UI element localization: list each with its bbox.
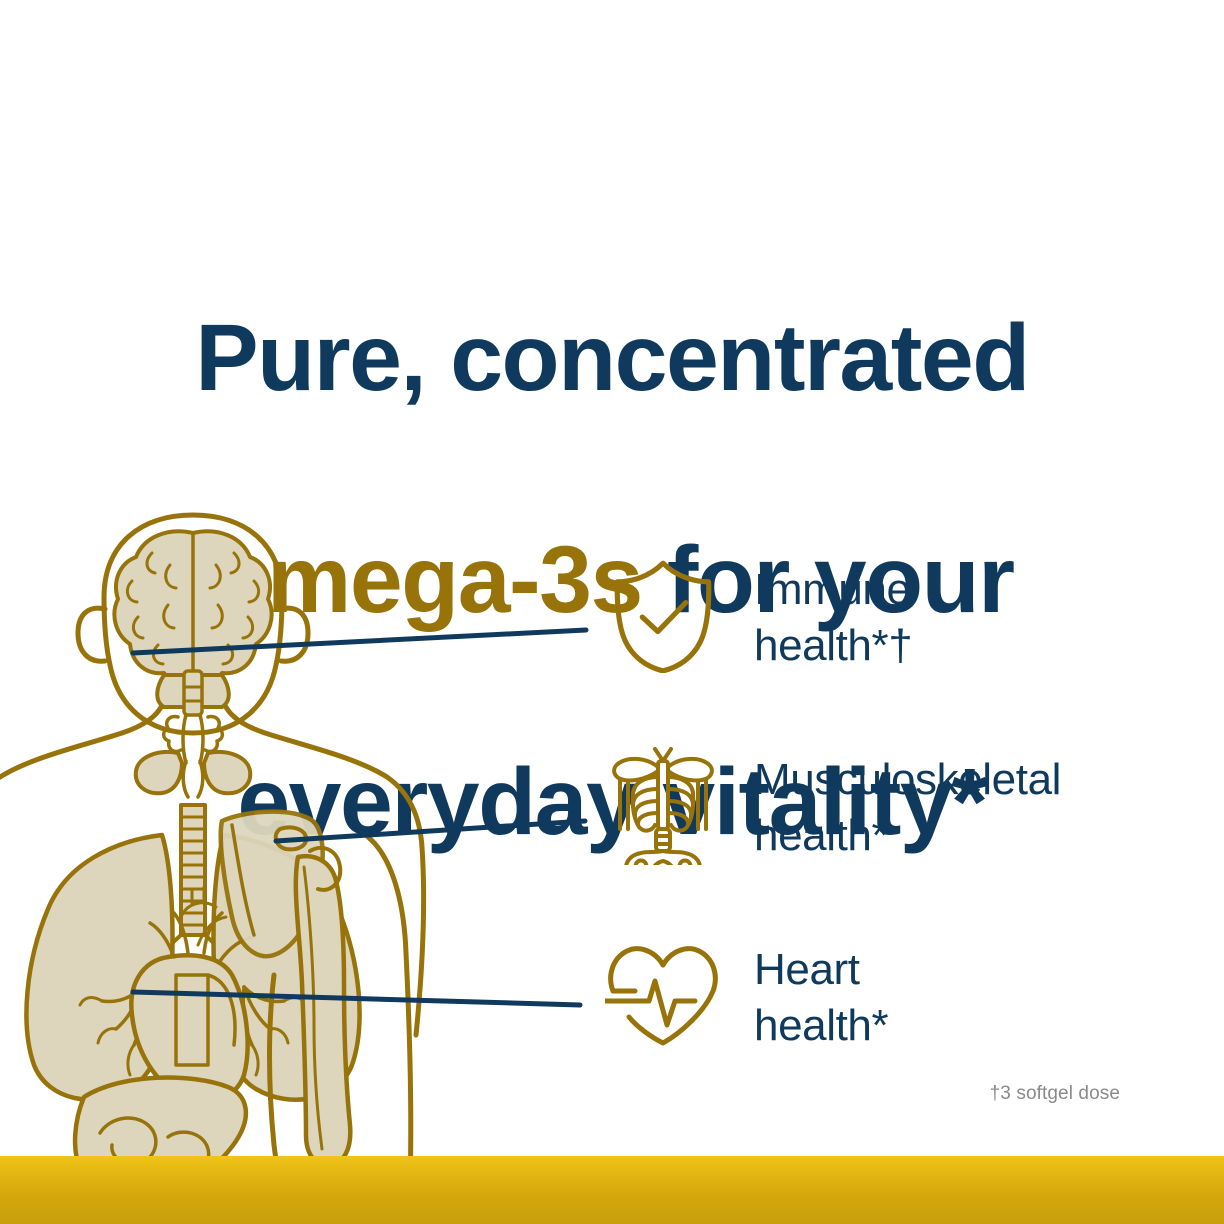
headline-line-1: Pure, concentrated: [195, 305, 1029, 411]
footnote-softgel-dose: †3 softgel dose: [990, 1083, 1120, 1105]
benefit-label-heart: Heart health*: [754, 942, 888, 1055]
benefit-item-musculoskeletal[interactable]: Musculoskeletal health*: [604, 746, 1164, 936]
heart-pulse-icon: [604, 936, 722, 1054]
bottom-gold-bar: [0, 1156, 1224, 1224]
skeleton-icon: [604, 746, 722, 864]
benefits-list: Immune health*†: [604, 556, 1164, 1126]
benefit-label-immune: Immune health*†: [754, 562, 912, 675]
benefit-item-immune[interactable]: Immune health*†: [604, 556, 1164, 746]
human-anatomy-illustration: [0, 505, 472, 1185]
shield-check-icon: [604, 556, 722, 674]
infographic-canvas: Pure, concentrated omega-3s for your eve…: [0, 0, 1224, 1224]
benefit-label-musculoskeletal: Musculoskeletal health*: [754, 752, 1061, 865]
